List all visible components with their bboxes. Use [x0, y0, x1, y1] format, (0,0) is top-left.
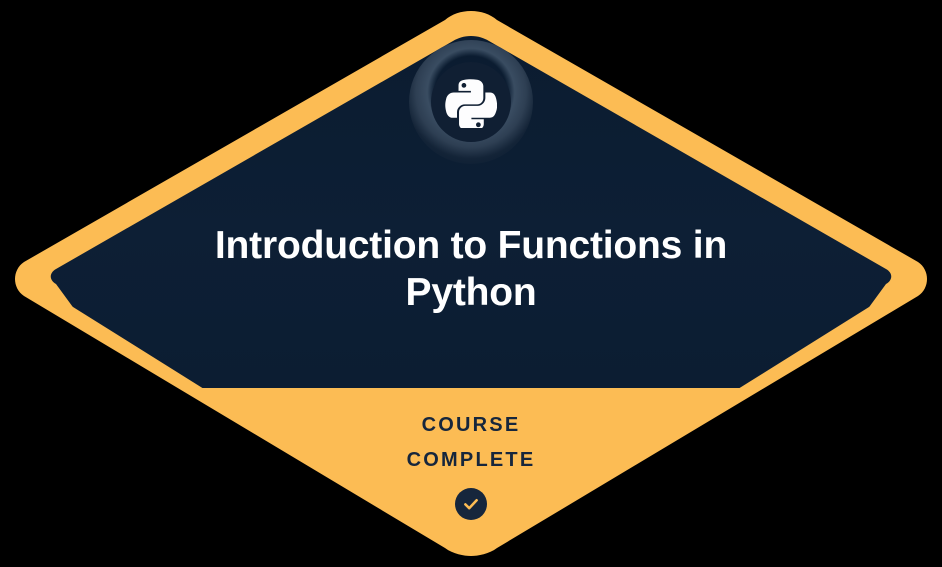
course-completion-badge: Introduction to Functions in Python COUR…: [0, 0, 942, 567]
check-mark-icon: [462, 495, 480, 513]
status-label-line-two: COMPLETE: [261, 443, 681, 478]
course-title: Introduction to Functions in Python: [191, 222, 751, 316]
check-circle-icon: [455, 488, 487, 520]
python-logo-icon: [445, 76, 497, 128]
completion-status-block: COURSE COMPLETE: [261, 408, 681, 520]
status-label-line-one: COURSE: [261, 408, 681, 443]
status-label: COURSE COMPLETE: [261, 408, 681, 478]
python-emblem: [409, 40, 533, 164]
